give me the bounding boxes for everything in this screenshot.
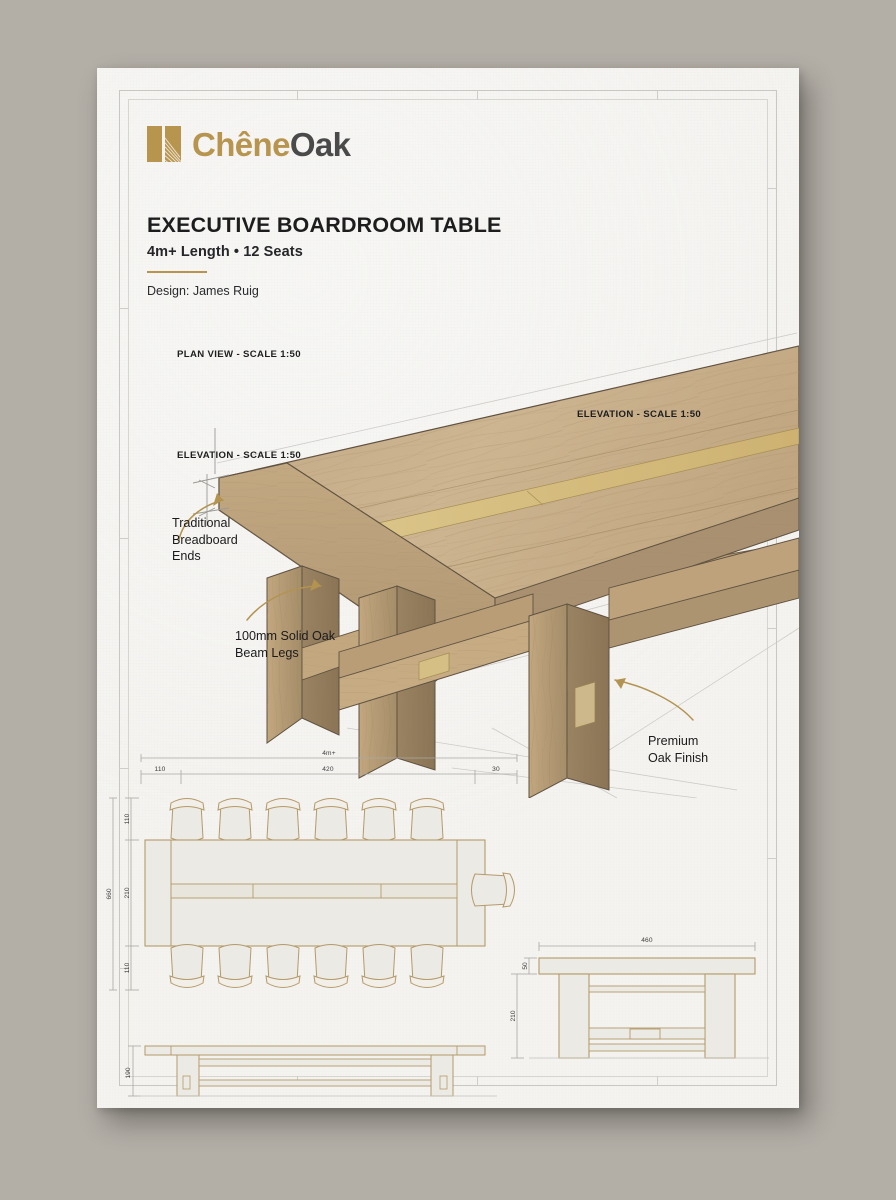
dim-side-mid: 210 (124, 887, 131, 898)
leg-mortise-detail (575, 682, 595, 728)
side-elevation-view: 460 50 210 (510, 937, 769, 1058)
front-elevation-label: ELEVATION - SCALE 1:50 (177, 450, 301, 461)
side-elev-top (539, 958, 755, 974)
plan-view: 4m+ 110 420 30 660 110 210 1 (106, 750, 517, 990)
plan-center-inlay (171, 884, 457, 898)
side-elev-key-detail (630, 1029, 660, 1039)
title-divider (147, 271, 207, 273)
technical-views: 4m+ 110 420 30 660 110 210 1 (97, 728, 799, 1108)
page-subtitle: 4m+ Length • 12 Seats (147, 244, 303, 260)
front-elev-stretcher (199, 1080, 431, 1086)
brand-name-part2: Oak (290, 126, 351, 163)
front-elev-top (145, 1046, 485, 1055)
dim-seg-right: 30 (492, 766, 500, 773)
brand-logo: ChêneOak (147, 126, 350, 162)
brand-name-part1: Chêne (192, 126, 290, 163)
dim-front-height: 190 (125, 1067, 132, 1078)
designer-credit: Design: James Ruig (147, 284, 259, 298)
side-elev-leg-right (705, 974, 735, 1058)
dim-overall-length: 4m+ (322, 750, 336, 757)
side-elevation-label: ELEVATION - SCALE 1:50 (577, 409, 701, 420)
dim-overall-width: 660 (106, 888, 113, 899)
drawing-sheet: ChêneOak EXECUTIVE BOARDROOM TABLE 4m+ L… (97, 68, 799, 1108)
plan-view-label: PLAN VIEW - SCALE 1:50 (177, 349, 301, 360)
frame-tick (477, 90, 478, 100)
side-elev-leg-left (559, 974, 589, 1058)
dim-side-bottom: 110 (124, 962, 131, 973)
plan-chairs-top (170, 799, 444, 842)
oak-grain-mark-icon (147, 126, 181, 162)
dim-side-top: 110 (124, 813, 131, 824)
dim-side-leg-height: 210 (510, 1010, 517, 1021)
callout-breadboard: Traditional Breadboard Ends (172, 515, 238, 565)
frame-tick (767, 188, 777, 189)
page-title: EXECUTIVE BOARDROOM TABLE (147, 213, 502, 238)
callout-beam-legs: 100mm Solid Oak Beam Legs (235, 628, 335, 661)
front-elev-leg-left (177, 1055, 199, 1096)
dim-seg-left: 110 (154, 766, 165, 773)
front-elev-leg-right (431, 1055, 453, 1096)
plan-chairs-bottom (170, 945, 444, 988)
plan-chair-end (472, 873, 515, 907)
front-elevation-view: 190 (125, 1046, 497, 1096)
frame-tick (297, 90, 298, 100)
dim-seg-mid: 420 (322, 766, 334, 773)
frame-tick (657, 90, 658, 100)
brand-wordmark: ChêneOak (192, 128, 350, 161)
dim-side-width: 460 (641, 937, 653, 944)
dim-side-top-thickness: 50 (522, 962, 529, 970)
poster-canvas: ChêneOak EXECUTIVE BOARDROOM TABLE 4m+ L… (0, 0, 896, 1200)
